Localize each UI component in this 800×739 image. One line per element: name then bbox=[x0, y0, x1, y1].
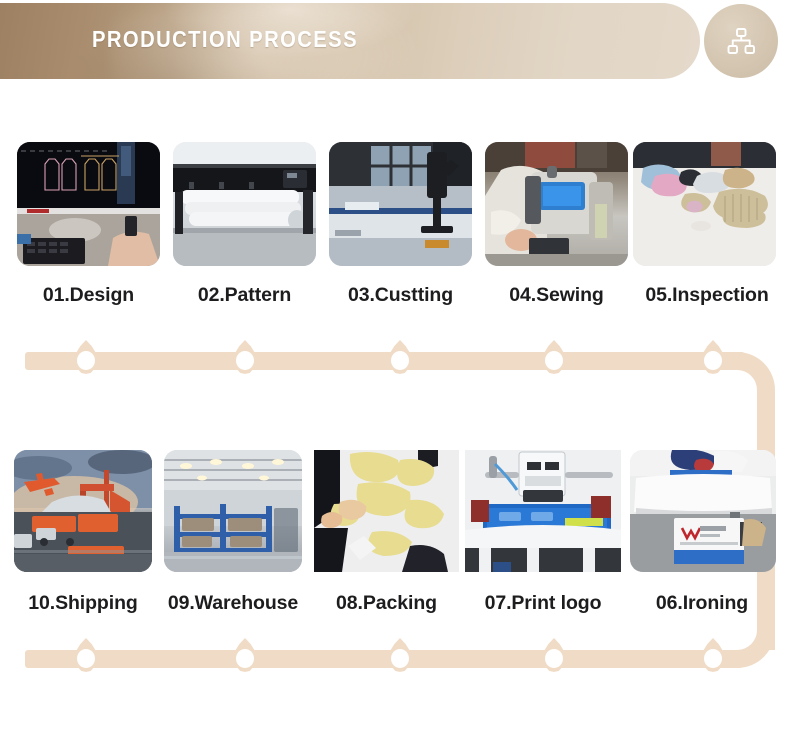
step-image-09 bbox=[164, 450, 302, 572]
step-image-02 bbox=[173, 142, 316, 266]
step-label-02: 02.Pattern bbox=[173, 284, 316, 307]
image-warehouse bbox=[164, 450, 302, 572]
page-header: PRODUCTION PROCESS bbox=[0, 0, 800, 82]
pin-marker-icon bbox=[73, 638, 99, 672]
pin-marker-icon bbox=[387, 340, 413, 374]
pin-marker-icon bbox=[541, 340, 567, 374]
pin-marker-icon bbox=[73, 340, 99, 374]
pin-marker-icon bbox=[541, 638, 567, 672]
header-badge bbox=[704, 4, 778, 78]
step-label-05: 05.Inspection bbox=[633, 284, 781, 307]
step-image-03 bbox=[329, 142, 472, 266]
step-label-10: 10.Shipping bbox=[8, 592, 158, 615]
image-ironing bbox=[630, 450, 776, 572]
step-image-04 bbox=[485, 142, 628, 266]
step-image-06 bbox=[630, 450, 776, 572]
image-cutting bbox=[329, 142, 472, 266]
image-packing bbox=[314, 450, 459, 572]
step-image-10 bbox=[14, 450, 152, 572]
step-label-07: 07.Print logo bbox=[465, 592, 621, 615]
step-image-05 bbox=[633, 142, 776, 266]
image-design bbox=[17, 142, 160, 266]
step-label-04: 04.Sewing bbox=[485, 284, 628, 307]
image-pattern bbox=[173, 142, 316, 266]
step-label-08: 08.Packing bbox=[314, 592, 459, 615]
pin-marker-icon bbox=[232, 340, 258, 374]
image-inspection bbox=[633, 142, 776, 266]
page-title: PRODUCTION PROCESS bbox=[92, 26, 358, 53]
connector-rail-bottom bbox=[25, 650, 743, 668]
step-image-01 bbox=[17, 142, 160, 266]
connector-rail-top bbox=[25, 352, 745, 370]
pin-marker-icon bbox=[232, 638, 258, 672]
step-label-09: 09.Warehouse bbox=[157, 592, 309, 615]
step-image-07 bbox=[465, 450, 621, 572]
step-label-03: 03.Custting bbox=[329, 284, 472, 307]
image-shipping bbox=[14, 450, 152, 572]
pin-marker-icon bbox=[700, 340, 726, 374]
step-image-08 bbox=[314, 450, 459, 572]
step-label-01: 01.Design bbox=[17, 284, 160, 307]
image-print-logo bbox=[465, 450, 621, 572]
org-chart-icon bbox=[724, 24, 758, 58]
pin-marker-icon bbox=[387, 638, 413, 672]
image-sewing bbox=[485, 142, 628, 266]
pin-marker-icon bbox=[700, 638, 726, 672]
